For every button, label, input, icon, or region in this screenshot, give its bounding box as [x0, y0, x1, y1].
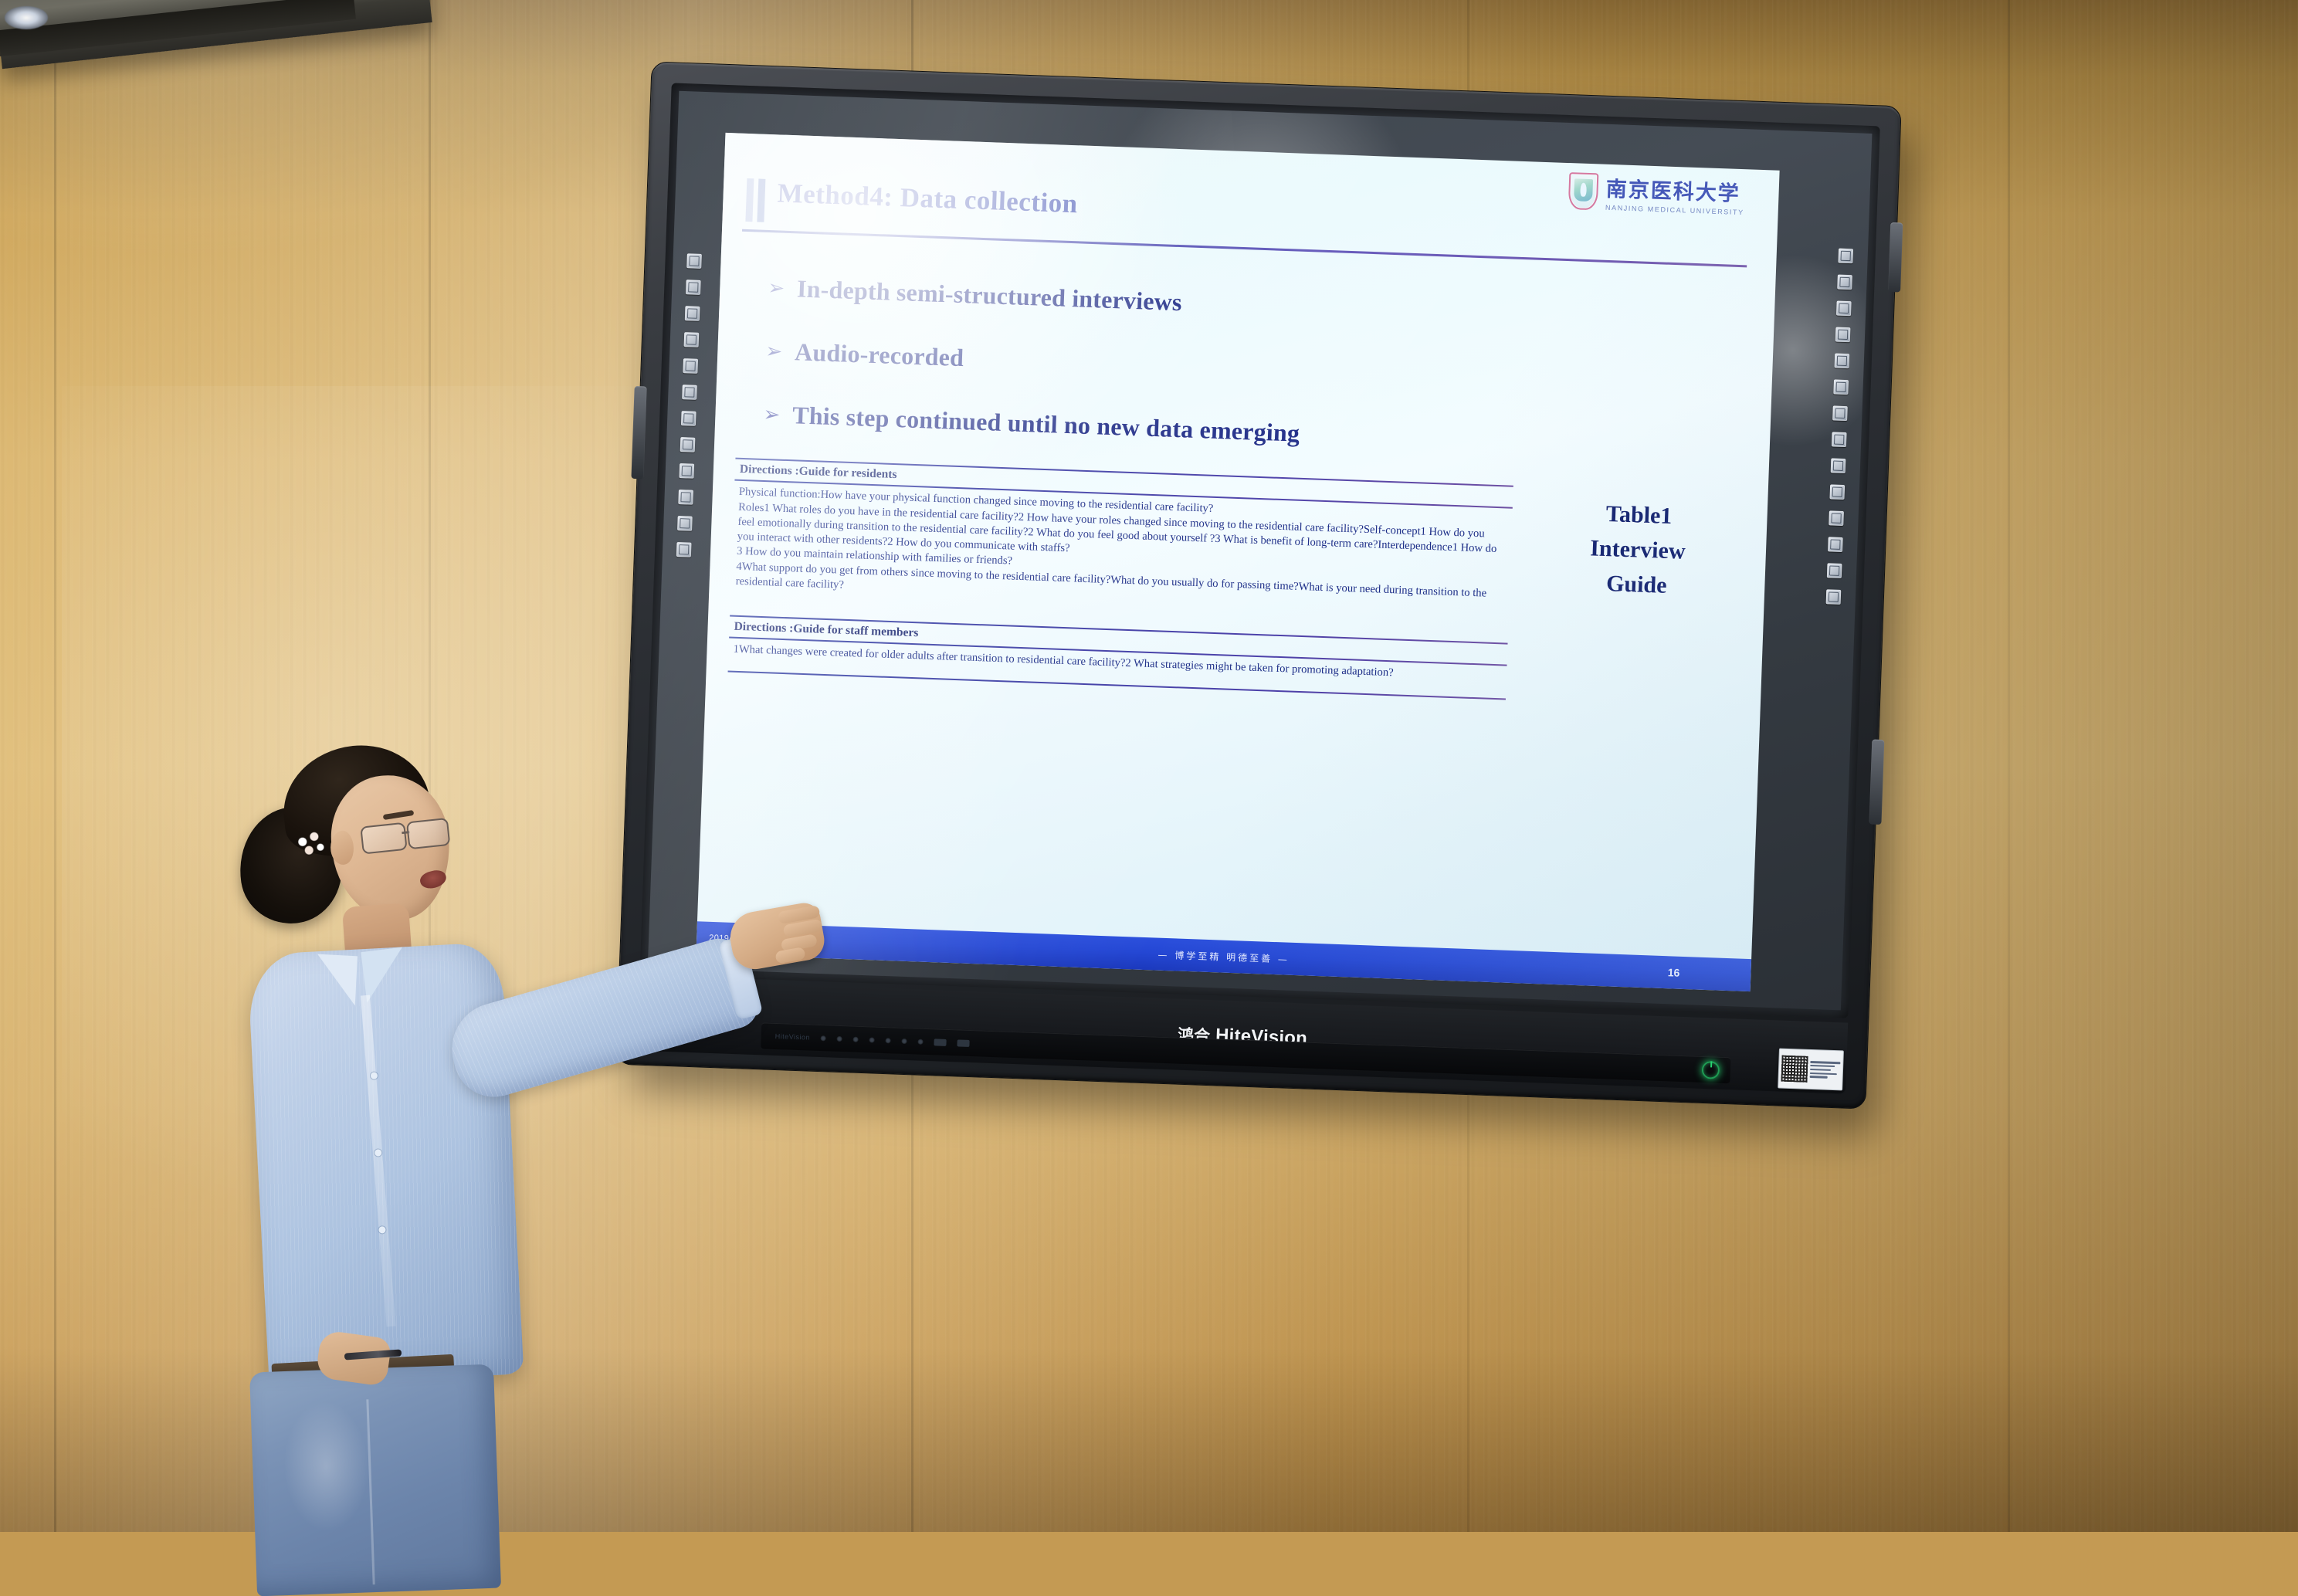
left-toolbar-rail[interactable]	[673, 253, 704, 557]
wall-panel-seam	[2008, 0, 2010, 1532]
rail-new-page-icon[interactable]	[1835, 327, 1850, 343]
university-logo: 南京医科大学 NANJING MEDICAL UNIVERSITY	[1568, 171, 1745, 216]
rail-exit-icon[interactable]	[1826, 563, 1842, 578]
accent-bar	[745, 178, 754, 222]
university-crest-icon	[1568, 172, 1599, 210]
left-side-handle	[631, 386, 646, 479]
toolbar-settings-icon[interactable]	[677, 516, 693, 531]
display-glass[interactable]: Method4: Data collection 南京医科大学 NANJING …	[648, 91, 1873, 1011]
rail-zoom-icon[interactable]	[1830, 458, 1846, 473]
university-name-cn: 南京医科大学	[1605, 172, 1745, 207]
control-dot-icon[interactable]	[902, 1038, 907, 1043]
control-key-icon[interactable]	[957, 1039, 970, 1047]
rail-export-icon[interactable]	[1833, 379, 1849, 395]
qr-code-icon	[1781, 1056, 1808, 1083]
pointing-arm	[441, 932, 764, 1106]
control-dot-icon[interactable]	[886, 1038, 891, 1043]
toolbar-text-icon[interactable]	[683, 358, 698, 374]
control-dot-icon[interactable]	[821, 1035, 826, 1041]
asset-qr-sticker	[1778, 1048, 1844, 1090]
chevron-bullet-icon: ➢	[768, 278, 785, 299]
rail-copy-icon[interactable]	[1835, 301, 1851, 317]
hair-pin-accessory	[294, 830, 329, 861]
toolbar-pen-icon[interactable]	[686, 253, 702, 269]
right-side-handle-top	[1888, 222, 1903, 293]
presenter-person	[232, 741, 726, 1591]
display-panel-recess: Method4: Data collection 南京医科大学 NANJING …	[639, 83, 1879, 1018]
toolbar-camera-icon[interactable]	[678, 490, 693, 505]
right-toolbar-rail[interactable]	[1823, 248, 1856, 605]
control-dot-icon[interactable]	[869, 1037, 875, 1042]
recessed-downlight-icon	[5, 6, 48, 29]
interview-guide-table: Directions :Guide for residents Physical…	[728, 458, 1513, 700]
list-item: ➢ Audio-recorded	[765, 337, 1727, 399]
rail-undo-icon[interactable]	[1829, 484, 1845, 500]
toolbar-redo-icon[interactable]	[680, 411, 696, 426]
control-panel-label: HiteVision	[775, 1032, 811, 1042]
sleeve-texture	[441, 932, 764, 1106]
chevron-bullet-icon: ➢	[765, 341, 783, 362]
rail-grid-icon[interactable]	[1825, 589, 1841, 605]
table-caption: Table1 Interview Guide	[1544, 494, 1733, 605]
control-dot-icon[interactable]	[918, 1039, 924, 1044]
power-button-icon[interactable]	[1702, 1060, 1720, 1079]
accent-bar	[757, 178, 765, 222]
rail-pen-icon[interactable]	[1831, 432, 1846, 447]
presentation-slide[interactable]: Method4: Data collection 南京医科大学 NANJING …	[696, 133, 1779, 991]
shirt-collar-left	[315, 954, 358, 1006]
glasses-lens-right	[406, 818, 450, 849]
rail-crop-icon[interactable]	[1832, 405, 1848, 421]
toolbar-undo-icon[interactable]	[682, 385, 697, 400]
bullet-text: This step continued until no new data em…	[792, 401, 1300, 447]
table-caption-line: Guide	[1544, 564, 1730, 605]
footer-page-number: 16	[1668, 966, 1680, 979]
title-underline	[742, 229, 1747, 267]
bullet-text: In-depth semi-structured interviews	[796, 274, 1182, 317]
rail-link-icon[interactable]	[1828, 537, 1843, 552]
toolbar-page-icon[interactable]	[680, 437, 695, 452]
chevron-bullet-icon: ➢	[763, 405, 781, 425]
slide-footer: 2019/5/29 — 博学至精 明德至善 — 16	[696, 921, 1751, 991]
rail-import-icon[interactable]	[1834, 353, 1849, 368]
slide-title: Method4: Data collection	[777, 178, 1078, 219]
title-accent-bars	[745, 178, 765, 222]
list-item: ➢ This step continued until no new data …	[763, 400, 1724, 463]
control-dot-icon[interactable]	[853, 1036, 859, 1042]
control-key-icon[interactable]	[934, 1039, 947, 1046]
toolbar-select-icon[interactable]	[684, 306, 700, 321]
list-item: ➢ In-depth semi-structured interviews	[768, 273, 1729, 336]
jeans	[249, 1364, 501, 1596]
toolbar-close-icon[interactable]	[676, 542, 691, 557]
rail-home-icon[interactable]	[1838, 249, 1853, 264]
denim-highlight	[281, 1399, 371, 1533]
rail-refresh-icon[interactable]	[1829, 510, 1844, 526]
rail-save-icon[interactable]	[1837, 275, 1852, 290]
toolbar-eraser-icon[interactable]	[686, 280, 701, 295]
footer-motto: — 博学至精 明德至善 —	[697, 931, 1751, 982]
control-dot-icon[interactable]	[837, 1035, 842, 1041]
glasses-lens-left	[360, 822, 407, 855]
toolbar-save-icon[interactable]	[679, 463, 694, 479]
bullet-text: Audio-recorded	[795, 337, 964, 372]
toolbar-shape-icon[interactable]	[683, 332, 699, 347]
asset-tag-text-lines	[1810, 1061, 1841, 1079]
